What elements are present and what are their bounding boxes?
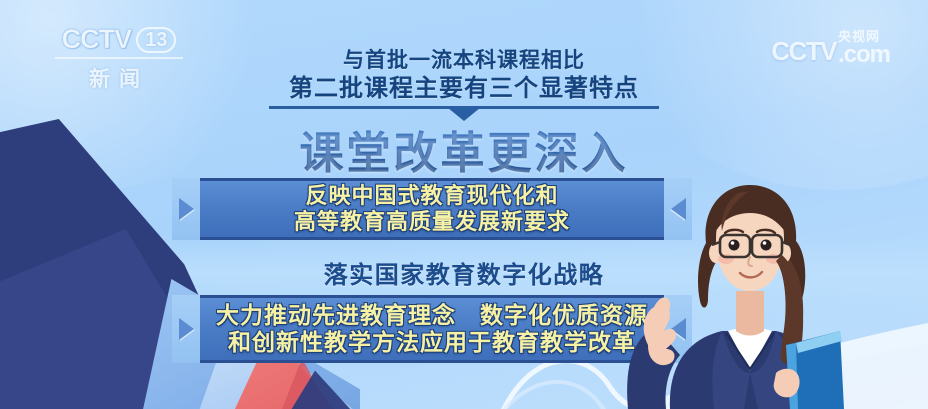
subtitle-line-1: 与首批一流本科课程相比 xyxy=(0,48,928,74)
triangle-right-icon xyxy=(179,198,194,220)
point-1-line-2: 高等教育高质量发展新要求 xyxy=(294,209,570,235)
teacher-hand xyxy=(774,369,800,398)
point-1-left-marker xyxy=(172,178,200,240)
subtitle-block: 与首批一流本科课程相比 第二批课程主要有三个显著特点 xyxy=(0,48,928,103)
point-3-line-2: 和创新性教学方法应用于教育教学改革 xyxy=(228,329,636,356)
teacher-neck xyxy=(736,291,764,336)
teacher-illustration xyxy=(610,159,870,409)
point-1-line-1: 反映中国式教育现代化和 xyxy=(305,183,558,209)
point-3-banner: 大力推动先进教育理念 数字化优质资源 和创新性教学方法应用于教育教学改革 xyxy=(200,295,664,363)
triangle-right-icon xyxy=(179,318,194,340)
point-3-left-marker xyxy=(172,295,200,363)
point-1-banner: 反映中国式教育现代化和 高等教育高质量发展新要求 xyxy=(200,178,664,240)
subtitle-line-2: 第二批课程主要有三个显著特点 xyxy=(0,74,928,103)
news-graphic-stage: CCTV 13 新闻 CCTV 央视网 .com 与首批一流本科课程相比 第二批… xyxy=(0,0,928,409)
point-3-line-1: 大力推动先进教育理念 数字化优质资源 xyxy=(216,302,648,329)
